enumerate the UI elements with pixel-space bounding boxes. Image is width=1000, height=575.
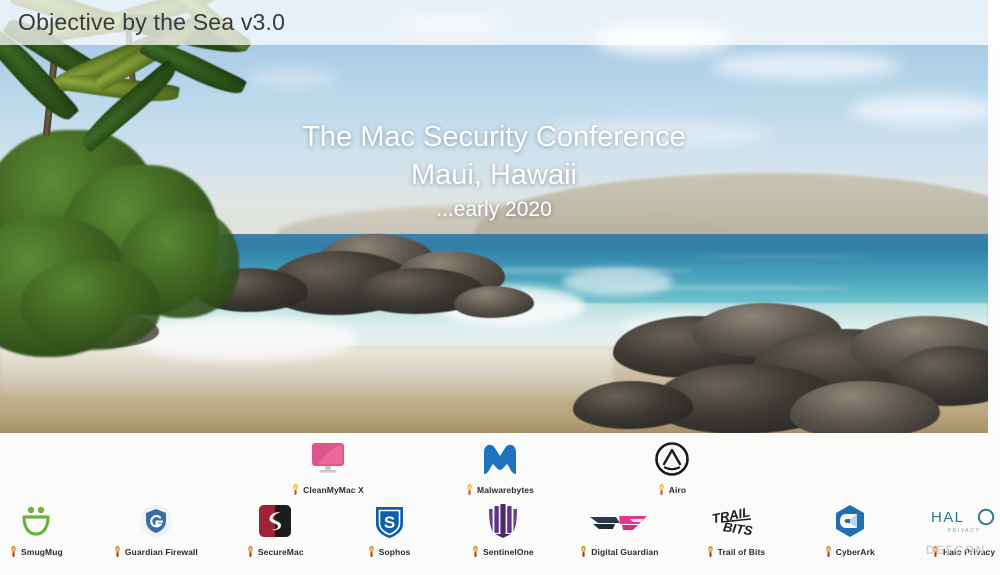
svg-text:S: S: [383, 513, 394, 532]
sponsor-name: Airo: [669, 485, 686, 495]
sponsor-label-row: SmugMug: [10, 546, 63, 557]
defcon-watermark: DEFCON: [926, 543, 986, 557]
trail-of-bits-logo: TRAIL BITS: [709, 501, 763, 541]
sponsor-name: Malwarebytes: [477, 485, 534, 495]
sentinelone-logo: [487, 501, 519, 541]
tiki-torch-icon: [580, 546, 587, 557]
conference-location: Maui, Hawaii: [0, 156, 988, 194]
sponsor-label-row: Digital Guardian: [580, 546, 658, 557]
hero-title-block: The Mac Security Conference Maui, Hawaii…: [0, 118, 988, 226]
tiki-torch-icon: [114, 546, 121, 557]
sponsor-trail-of-bits[interactable]: TRAIL BITS Trail of Bits: [700, 501, 773, 557]
sponsor-securemac[interactable]: SecureMac: [239, 501, 312, 557]
sponsor-label-row: Trail of Bits: [707, 546, 766, 557]
sponsor-guardian-firewall[interactable]: Guardian Firewall: [114, 501, 198, 557]
tiki-torch-icon: [368, 546, 375, 557]
cleanmymac-logo: [310, 439, 346, 479]
cyberark-logo: [833, 501, 867, 541]
securemac-logo: [258, 501, 292, 541]
sponsor-smugmug[interactable]: SmugMug: [0, 501, 73, 557]
sponsor-label-row: SecureMac: [247, 546, 304, 557]
sponsor-label-row: CleanMyMac X: [292, 484, 364, 495]
sponsor-label-row: SentinelOne: [472, 546, 534, 557]
sea-foam: [128, 316, 358, 362]
sponsor-name: Sophos: [379, 547, 411, 557]
conference-date: ...early 2020: [0, 194, 988, 226]
slide-header-bar: Objective by the Sea v3.0: [0, 0, 1000, 45]
sponsor-name: SmugMug: [21, 547, 63, 557]
sponsor-digital-guardian[interactable]: Digital Guardian: [580, 501, 658, 557]
sponsor-label-row: Airo: [658, 484, 686, 495]
sponsor-name: SecureMac: [258, 547, 304, 557]
sponsor-name: Digital Guardian: [591, 547, 658, 557]
airo-logo: [654, 439, 690, 479]
malwarebytes-logo: [481, 439, 519, 479]
presentation-slide: Objective by the Sea v3.0 The Mac Securi…: [0, 0, 1000, 575]
tiki-torch-icon: [825, 546, 832, 557]
sophos-logo: S: [374, 501, 405, 541]
tiki-torch-icon: [707, 546, 714, 557]
sponsor-cyberark[interactable]: CyberArk: [813, 501, 886, 557]
sponsor-airo[interactable]: Airo: [626, 439, 718, 495]
sponsor-label-row: Sophos: [368, 546, 411, 557]
sponsors-section: CleanMyMac X Malwarebytes: [0, 433, 1000, 575]
guardian-firewall-logo: [139, 501, 173, 541]
tiki-torch-icon: [472, 546, 479, 557]
sponsor-name: Trail of Bits: [718, 547, 766, 557]
page-title: Objective by the Sea v3.0: [18, 9, 285, 36]
sponsor-cleanmymac-x[interactable]: CleanMyMac X: [282, 439, 374, 495]
cloud: [711, 52, 901, 80]
sponsor-malwarebytes[interactable]: Malwarebytes: [454, 439, 546, 495]
sponsor-name: CleanMyMac X: [303, 485, 364, 495]
lava-rock: [573, 381, 693, 429]
sponsor-row-bottom: SmugMug Gu: [0, 501, 1000, 557]
conference-name: The Mac Security Conference: [0, 118, 988, 156]
svg-text:PRIVACY: PRIVACY: [947, 528, 980, 534]
sponsor-name: CyberArk: [836, 547, 875, 557]
sponsor-label-row: Guardian Firewall: [114, 546, 198, 557]
svg-text:HAL: HAL: [931, 509, 964, 526]
smugmug-logo: [19, 501, 53, 541]
sponsor-row-top: CleanMyMac X Malwarebytes: [0, 439, 1000, 495]
halo-privacy-logo: HAL PRIVACY: [931, 501, 997, 541]
sponsor-name: Guardian Firewall: [125, 547, 198, 557]
tiki-torch-icon: [247, 546, 254, 557]
lava-rock: [454, 286, 534, 318]
sponsor-sentinelone[interactable]: SentinelOne: [466, 501, 539, 557]
sponsor-name: SentinelOne: [483, 547, 534, 557]
sponsor-label-row: CyberArk: [825, 546, 875, 557]
tiki-torch-icon: [466, 484, 473, 495]
tiki-torch-icon: [10, 546, 17, 557]
shrub: [20, 260, 160, 350]
sponsor-sophos[interactable]: S Sophos: [353, 501, 426, 557]
tiki-torch-icon: [658, 484, 665, 495]
sponsor-label-row: Malwarebytes: [466, 484, 534, 495]
digital-guardian-logo: [589, 501, 649, 541]
tiki-torch-icon: [292, 484, 299, 495]
